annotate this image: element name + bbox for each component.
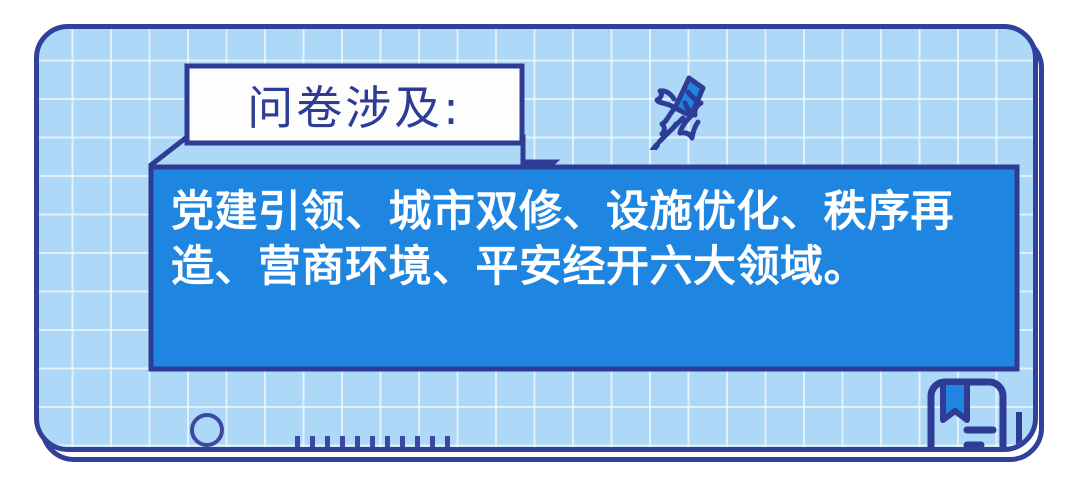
tick-mark: [295, 436, 300, 452]
tick-mark: [430, 436, 435, 452]
document-bookmark-icon: [923, 376, 1029, 452]
bookmark-ribbon: [943, 382, 967, 420]
info-card: 问卷涉及: 党建引领、城市双修、设施优化、秩序再造、营商环境、平安经开六大领域。: [34, 24, 1038, 452]
body-text: 党建引领、城市双修、设施优化、秩序再造、营商环境、平安经开六大领域。: [171, 185, 1001, 295]
tick-mark: [340, 436, 345, 452]
callout-group: 问卷涉及: 党建引领、城市双修、设施优化、秩序再造、营商环境、平安经开六大领域。: [149, 42, 1024, 372]
tick-marks-decoration: [295, 436, 450, 452]
tick-mark: [415, 436, 420, 452]
poster-canvas: 问卷涉及: 党建引领、城市双修、设施优化、秩序再造、营商环境、平安经开六大领域。: [0, 0, 1080, 493]
tick-mark: [400, 436, 405, 452]
header-label: 问卷涉及:: [187, 66, 522, 143]
tick-mark: [370, 436, 375, 452]
circle-decoration: [190, 413, 224, 447]
tick-mark: [325, 436, 330, 452]
tick-mark: [310, 436, 315, 452]
tick-mark: [355, 436, 360, 452]
tick-mark: [445, 436, 450, 452]
tick-mark: [385, 436, 390, 452]
quill-pen-icon: [645, 72, 707, 150]
